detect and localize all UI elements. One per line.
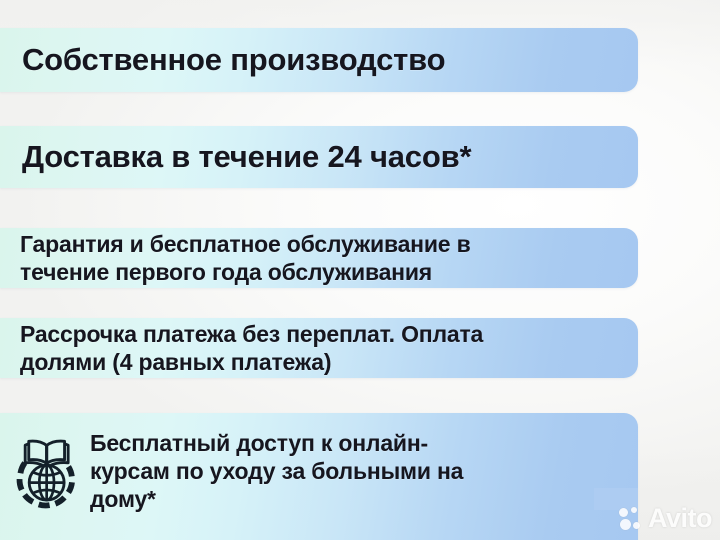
feature-banner-list: Собственное производство Доставка в тече… (0, 0, 720, 540)
feature-banner-delivery-24h: Доставка в течение 24 часов* (0, 126, 638, 188)
feature-banner-own-production: Собственное производство (0, 28, 638, 92)
feature-banner-text: Бесплатный доступ к онлайн- курсам по ух… (82, 425, 463, 513)
feature-banner-text: Собственное производство (0, 44, 445, 76)
open-book-globe-icon (0, 425, 82, 514)
feature-banner-text: Рассрочка платежа без переплат. Оплата д… (0, 320, 483, 376)
feature-banner-text: Гарантия и бесплатное обслуживание в теч… (0, 230, 471, 286)
feature-banner-installment: Рассрочка платежа без переплат. Оплата д… (0, 318, 638, 378)
feature-banner-warranty: Гарантия и бесплатное обслуживание в теч… (0, 228, 638, 288)
feature-banner-text: Доставка в течение 24 часов* (0, 141, 471, 173)
watermark-background-artifact (594, 488, 638, 510)
feature-banner-online-courses: Бесплатный доступ к онлайн- курсам по ух… (0, 413, 638, 540)
